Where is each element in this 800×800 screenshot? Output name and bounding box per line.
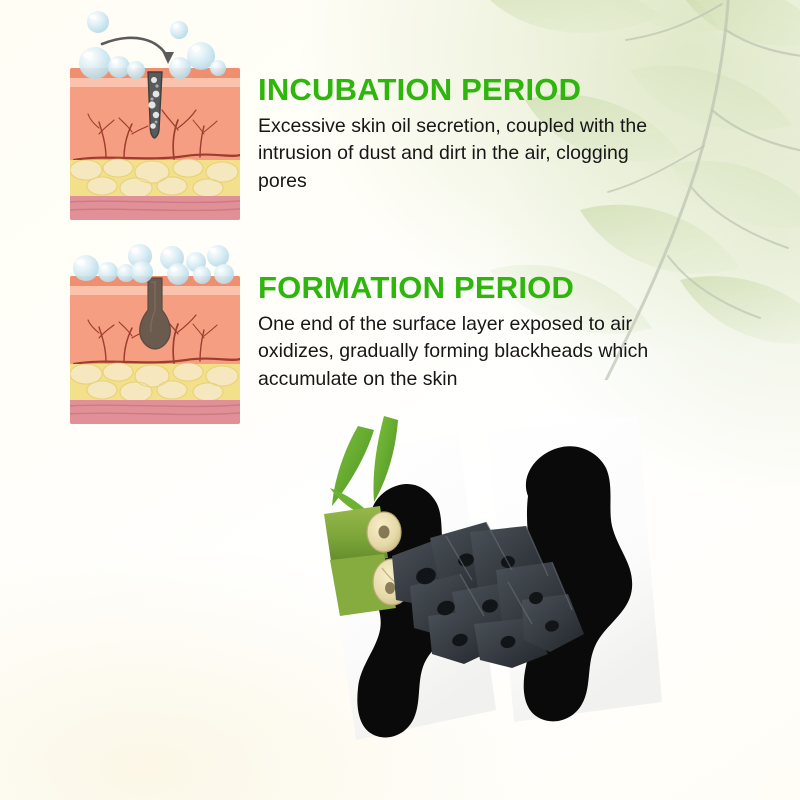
body-formation: One end of the surface layer exposed to … [258,311,698,394]
skin-diagram-formation [66,232,244,428]
skin-diagram-incubation [66,2,244,224]
infographic-page: INCUBATION PERIOD Excessive skin oil sec… [0,0,800,800]
heading-incubation: INCUBATION PERIOD [258,74,658,107]
section-formation: FORMATION PERIOD One end of the surface … [258,272,698,394]
section-incubation: INCUBATION PERIOD Excessive skin oil sec… [258,74,658,196]
product-photo [300,410,800,800]
heading-formation: FORMATION PERIOD [258,272,698,305]
body-incubation: Excessive skin oil secretion, coupled wi… [258,113,658,196]
